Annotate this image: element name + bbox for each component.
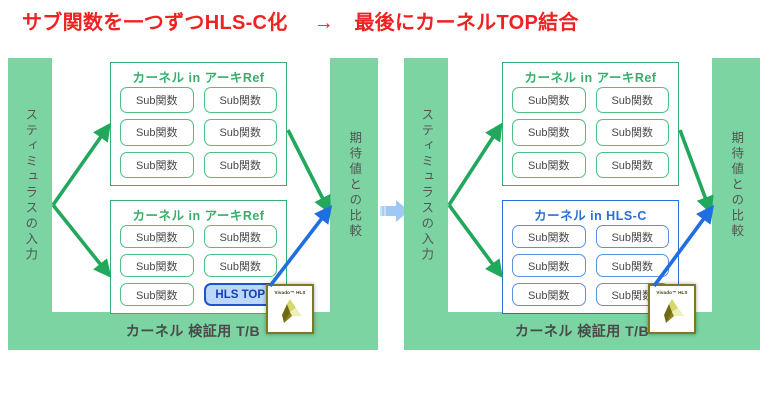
sub-function[interactable]: Sub関数: [596, 119, 670, 145]
sub-function-grid: Sub関数 Sub関数 Sub関数 Sub関数 Sub関数 Sub関数: [120, 87, 277, 178]
sub-function[interactable]: Sub関数: [120, 283, 194, 306]
testbench-label-right: カーネル 検証用 T/B: [404, 312, 760, 350]
kernel-box-title: カーネル in アーキRef: [503, 67, 678, 86]
sub-function[interactable]: Sub関数: [596, 152, 670, 178]
sub-function[interactable]: Sub関数: [204, 152, 278, 178]
sub-function[interactable]: Sub関数: [512, 283, 586, 306]
sub-function[interactable]: Sub関数: [120, 119, 194, 145]
sub-function[interactable]: Sub関数: [512, 87, 586, 113]
sub-function[interactable]: Sub関数: [512, 254, 586, 277]
vivado-logo-label: Vivado™ HLS: [274, 290, 305, 295]
sub-function[interactable]: Sub関数: [120, 87, 194, 113]
sub-function-grid: Sub関数 Sub関数 Sub関数 Sub関数 Sub関数 HLS TOP: [120, 225, 277, 306]
sub-function[interactable]: Sub関数: [596, 225, 670, 248]
sub-function-grid: Sub関数 Sub関数 Sub関数 Sub関数 Sub関数 Sub関数: [512, 225, 669, 306]
compare-bar-left: 期待値との比較: [330, 58, 378, 312]
page-title: サブ関数を一つずつHLS-C化 → 最後にカーネルTOP結合: [22, 6, 579, 35]
sub-function[interactable]: Sub関数: [512, 225, 586, 248]
kernel-box-title: カーネル in HLS-C: [503, 205, 678, 224]
sub-function[interactable]: Sub関数: [120, 254, 194, 277]
diagram-panel-left: スティミュラスの入力 期待値との比較 カーネル in アーキRef Sub関数 …: [8, 58, 378, 350]
compare-label-left: 期待値との比較: [348, 131, 361, 240]
kernel-box-left-bottom[interactable]: カーネル in アーキRef Sub関数 Sub関数 Sub関数 Sub関数 S…: [110, 200, 287, 314]
stimulus-label-right: スティミュラスの入力: [420, 108, 433, 263]
vivado-logo-label: Vivado™ HLS: [656, 290, 687, 295]
sub-function[interactable]: Sub関数: [204, 225, 278, 248]
sub-function[interactable]: Sub関数: [120, 225, 194, 248]
sub-function[interactable]: Sub関数: [204, 87, 278, 113]
slide-canvas: サブ関数を一つずつHLS-C化 → 最後にカーネルTOP結合 スティミュラスの入…: [0, 0, 768, 409]
kernel-box-right-top[interactable]: カーネル in アーキRef Sub関数 Sub関数 Sub関数 Sub関数 S…: [502, 62, 679, 186]
compare-label-right: 期待値との比較: [730, 131, 743, 240]
kernel-box-title: カーネル in アーキRef: [111, 67, 286, 86]
kernel-box-title: カーネル in アーキRef: [111, 205, 286, 224]
sub-function[interactable]: Sub関数: [204, 254, 278, 277]
stimulus-label-left: スティミュラスの入力: [24, 108, 37, 263]
sub-function[interactable]: Sub関数: [512, 119, 586, 145]
stimulus-bar-right: スティミュラスの入力: [404, 58, 448, 312]
sub-function[interactable]: Sub関数: [204, 119, 278, 145]
sub-function[interactable]: Sub関数: [120, 152, 194, 178]
kernel-box-left-top[interactable]: カーネル in アーキRef Sub関数 Sub関数 Sub関数 Sub関数 S…: [110, 62, 287, 186]
sub-function[interactable]: Sub関数: [512, 152, 586, 178]
compare-bar-right: 期待値との比較: [712, 58, 760, 312]
sub-function-grid: Sub関数 Sub関数 Sub関数 Sub関数 Sub関数 Sub関数: [512, 87, 669, 178]
sub-function[interactable]: Sub関数: [596, 254, 670, 277]
sub-function[interactable]: Sub関数: [596, 87, 670, 113]
stimulus-bar-left: スティミュラスの入力: [8, 58, 52, 312]
testbench-label-left: カーネル 検証用 T/B: [8, 312, 378, 350]
diagram-panel-right: スティミュラスの入力 期待値との比較 カーネル in アーキRef Sub関数 …: [404, 58, 760, 350]
